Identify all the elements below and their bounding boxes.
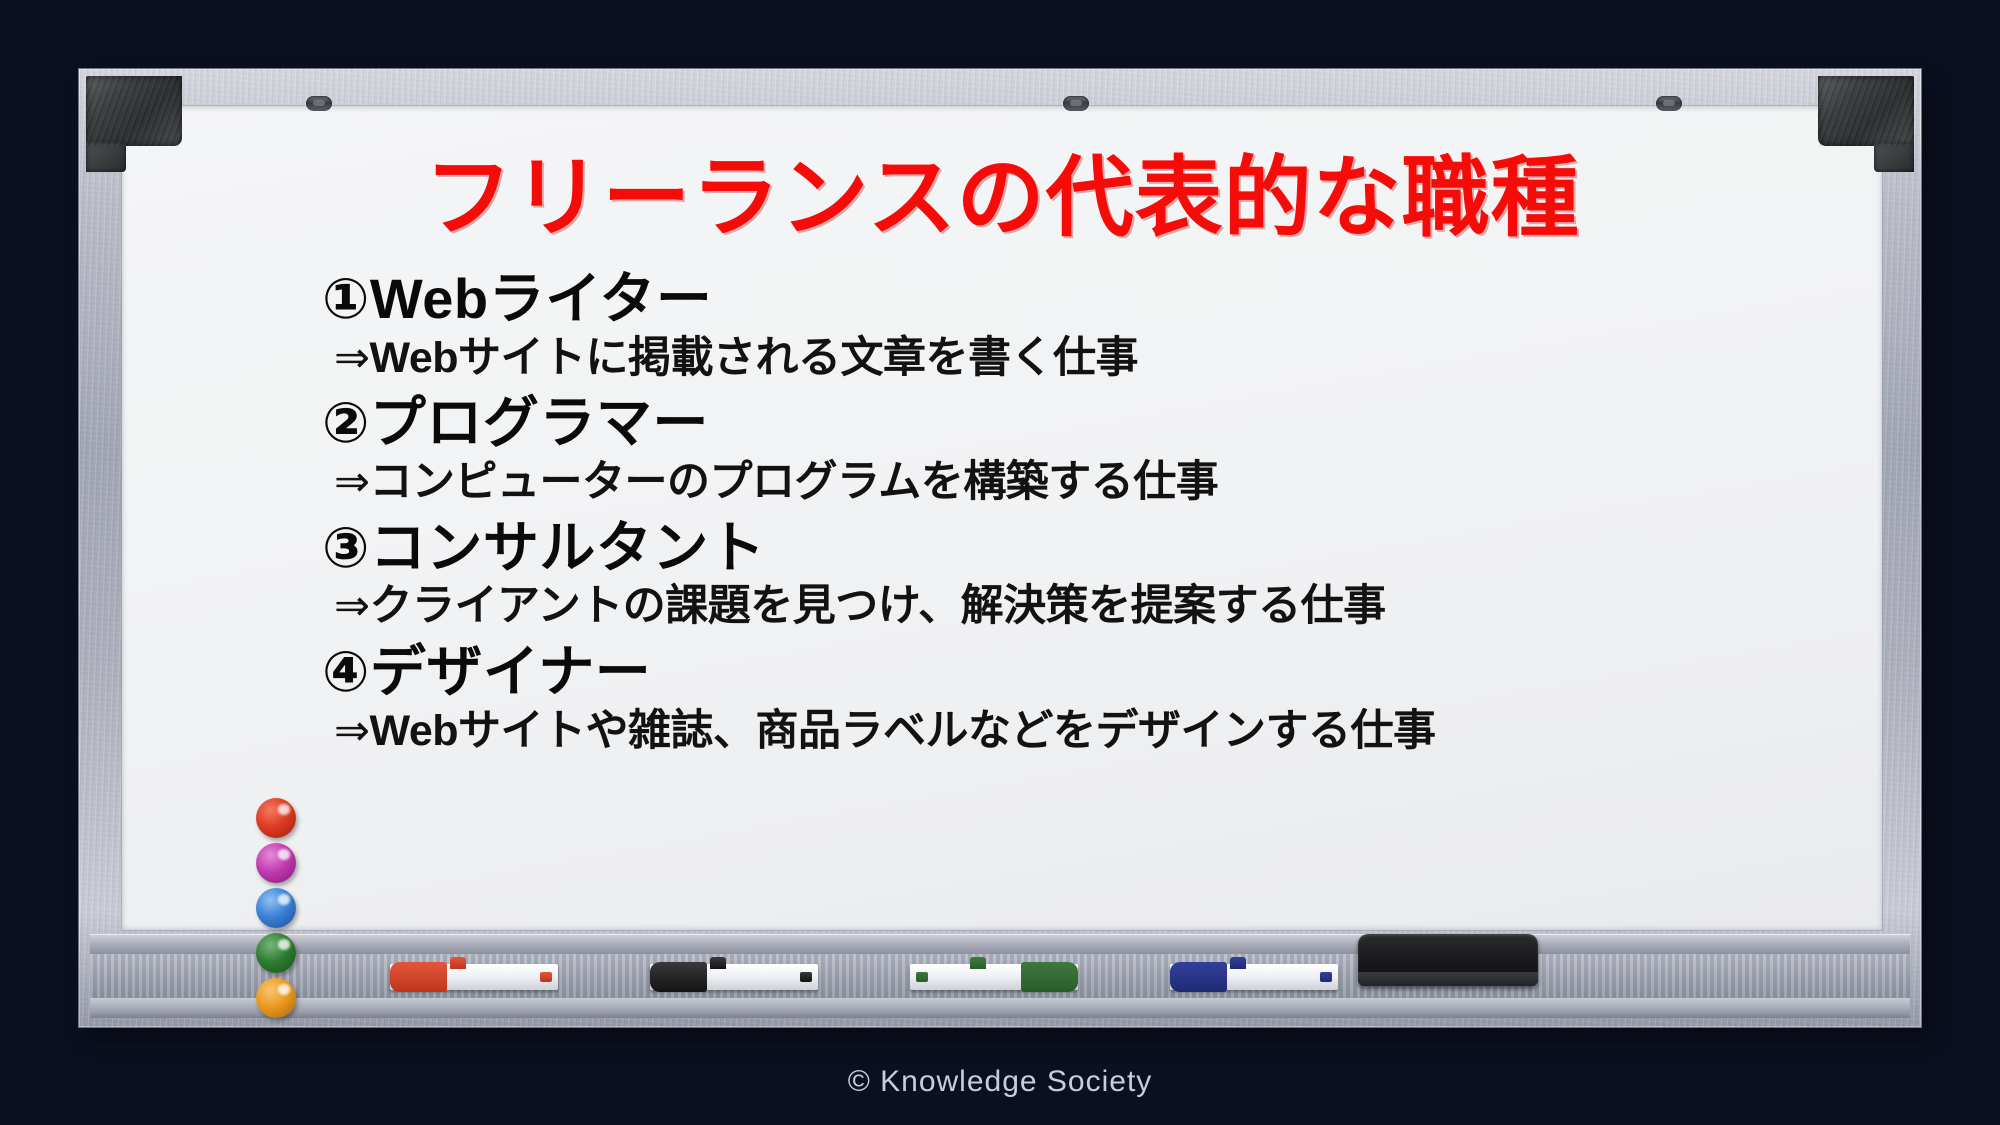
slide-title: フリーランスの代表的な職種 xyxy=(122,154,1882,242)
marker-tip-red xyxy=(540,972,552,982)
marker-cap-black xyxy=(650,962,707,992)
job-desc-2: ⇒コンピューターのプログラムを構築する仕事 xyxy=(334,457,1852,509)
marker-cap-green xyxy=(1021,962,1078,992)
footer-copyright: © Knowledge Society xyxy=(0,1065,2000,1099)
job-item-4: ④デザイナー ⇒Webサイトや雑誌、商品ラベルなどをデザインする仕事 xyxy=(322,641,1852,757)
marker-tip-green xyxy=(916,972,928,982)
arrow-icon-1: ⇒ xyxy=(334,334,370,382)
arrow-icon-3: ⇒ xyxy=(334,582,370,630)
marker-red[interactable] xyxy=(390,964,558,990)
arrow-icon-4: ⇒ xyxy=(334,707,370,755)
marker-clip-green xyxy=(970,957,986,969)
job-title-4: ④デザイナー xyxy=(322,641,1852,704)
whiteboard-eraser[interactable] xyxy=(1358,934,1538,986)
job-item-2: ②プログラマー ⇒コンピューターのプログラムを構築する仕事 xyxy=(322,392,1852,508)
job-desc-3: ⇒クライアントの課題を見つけ、解決策を提案する仕事 xyxy=(334,581,1852,633)
marker-clip-red xyxy=(450,957,466,969)
job-desc-1: ⇒Webサイトに掲載される文章を書く仕事 xyxy=(334,333,1852,385)
marker-clip-black xyxy=(710,957,726,969)
job-title-1: ①Webライター xyxy=(322,268,1852,331)
job-list: ①Webライター ⇒Webサイトに掲載される文章を書く仕事 ②プログラマー ⇒コ… xyxy=(322,268,1852,765)
marker-tip-blue xyxy=(1320,972,1332,982)
job-desc-text-1: Webサイトに掲載される文章を書く仕事 xyxy=(370,334,1139,382)
job-item-3: ③コンサルタント ⇒クライアントの課題を見つけ、解決策を提案する仕事 xyxy=(322,517,1852,633)
marker-black[interactable] xyxy=(650,964,818,990)
job-desc-text-2: コンピューターのプログラムを構築する仕事 xyxy=(370,458,1219,506)
marker-clip-blue xyxy=(1230,957,1246,969)
magnet-orange[interactable] xyxy=(256,978,296,1018)
magnet-green[interactable] xyxy=(256,933,296,973)
marker-blue[interactable] xyxy=(1170,964,1338,990)
marker-green[interactable] xyxy=(910,964,1078,990)
marker-tip-black xyxy=(800,972,812,982)
slide-content: フリーランスの代表的な職種 ①Webライター ⇒Webサイトに掲載される文章を書… xyxy=(122,106,1882,930)
whiteboard: フリーランスの代表的な職種 ①Webライター ⇒Webサイトに掲載される文章を書… xyxy=(78,68,1922,1028)
slide-canvas: フリーランスの代表的な職種 ①Webライター ⇒Webサイトに掲載される文章を書… xyxy=(0,0,2000,1125)
arrow-icon-2: ⇒ xyxy=(334,458,370,506)
tray-lip xyxy=(90,998,1910,1018)
job-desc-text-4: Webサイトや雑誌、商品ラベルなどをデザインする仕事 xyxy=(370,707,1436,755)
tray-top-rail xyxy=(90,934,1910,954)
job-desc-text-3: クライアントの課題を見つけ、解決策を提案する仕事 xyxy=(370,582,1386,630)
job-title-3: ③コンサルタント xyxy=(322,517,1852,580)
marker-cap-red xyxy=(390,962,447,992)
marker-cap-blue xyxy=(1170,962,1227,992)
job-title-2: ②プログラマー xyxy=(322,392,1852,455)
job-item-1: ①Webライター ⇒Webサイトに掲載される文章を書く仕事 xyxy=(322,268,1852,384)
marker-tray xyxy=(90,934,1910,1018)
job-desc-4: ⇒Webサイトや雑誌、商品ラベルなどをデザインする仕事 xyxy=(334,706,1852,758)
